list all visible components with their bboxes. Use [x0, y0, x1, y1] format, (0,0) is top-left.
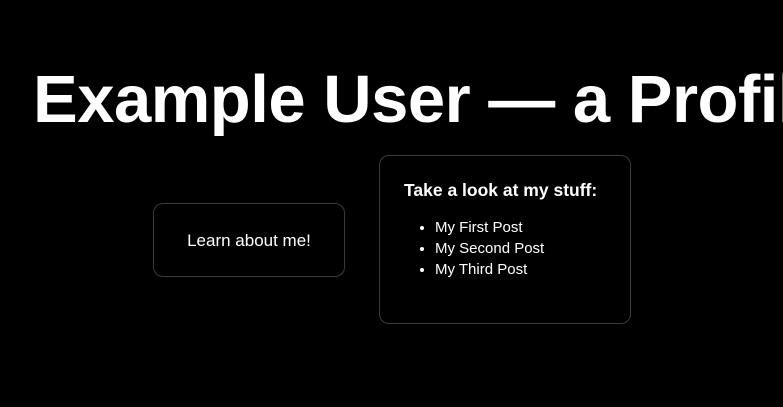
page-title: Example User — a Profile [33, 66, 750, 133]
list-item[interactable]: My First Post [435, 217, 606, 238]
page-root: Example User — a Profile Learn about me!… [0, 0, 783, 407]
list-item[interactable]: My Second Post [435, 238, 606, 259]
post-list: My First Post My Second Post My Third Po… [404, 217, 606, 280]
my-stuff-card-heading: Take a look at my stuff: [404, 180, 606, 201]
my-stuff-card: Take a look at my stuff: My First Post M… [379, 155, 631, 324]
content-row: Learn about me! Take a look at my stuff:… [0, 155, 783, 330]
learn-about-me-button-label: Learn about me! [187, 232, 311, 249]
list-item[interactable]: My Third Post [435, 259, 606, 280]
learn-about-me-button[interactable]: Learn about me! [153, 203, 345, 277]
